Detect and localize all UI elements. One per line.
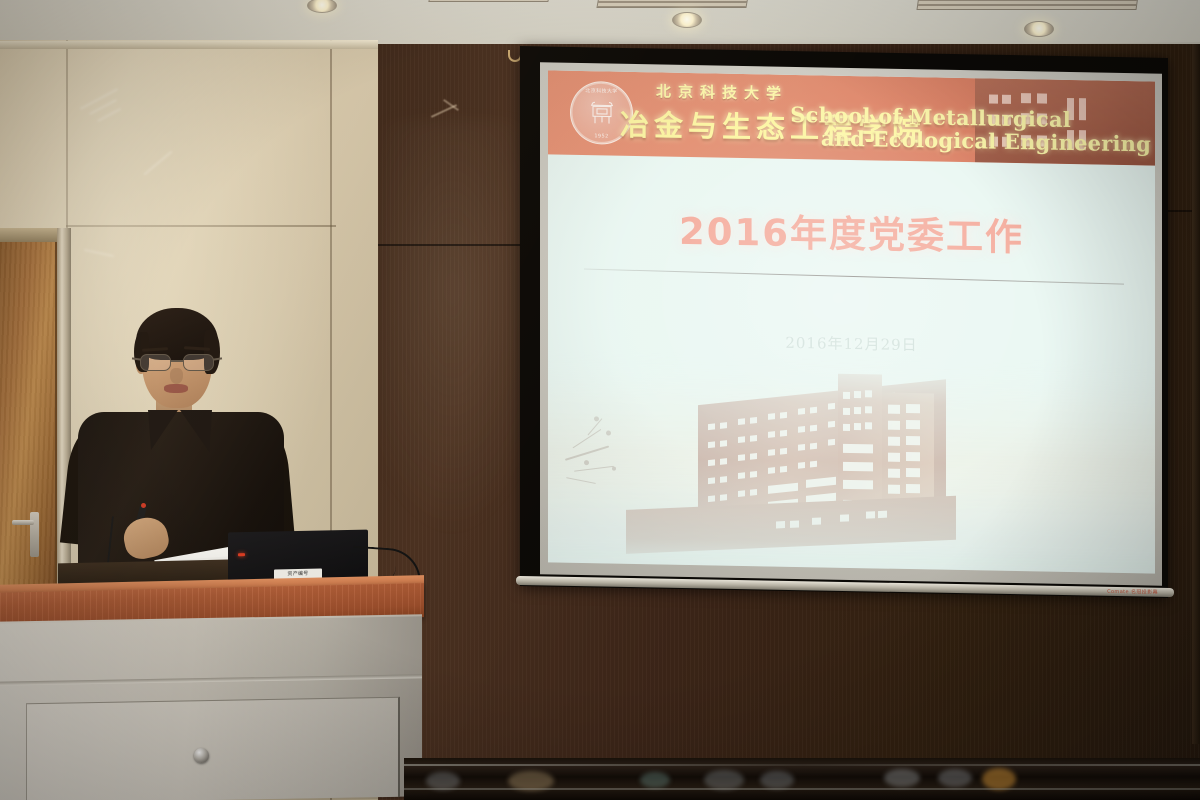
ceiling-vent-left xyxy=(428,0,551,2)
laser-pointer-led xyxy=(141,503,146,508)
reflective-floor-band xyxy=(404,758,1200,800)
eyeglass-bridge xyxy=(171,360,183,362)
wall-scratch-a xyxy=(80,88,118,109)
ceiling-downlight-2 xyxy=(672,12,702,28)
podium-cabinet-door[interactable] xyxy=(26,697,400,800)
wall-scratch-e xyxy=(144,151,173,176)
door-handle[interactable] xyxy=(12,520,34,525)
slide-divider-rule xyxy=(584,269,1124,285)
presenter-mouth xyxy=(164,384,188,393)
lecture-hall-photo: 北京科技大学 1952 北京科技大学 冶金与生态工程学院 School of M… xyxy=(0,0,1200,800)
podium-cabinet-knob[interactable] xyxy=(194,748,209,763)
illustration-fade-overlay xyxy=(548,350,1155,573)
eyeglass-lens-left xyxy=(140,354,171,371)
wall-scratch-d xyxy=(84,249,114,257)
presenter-nose xyxy=(170,368,183,384)
door-lock-plate xyxy=(30,512,39,557)
laptop-power-led xyxy=(238,553,245,556)
ding-cauldron-icon xyxy=(587,99,617,128)
wall-top-rail xyxy=(0,40,378,49)
eyeglass-lens-right xyxy=(183,354,214,371)
seal-arc-top-text: 北京科技大学 xyxy=(571,87,632,95)
slide-title: 2016年度党委工作 xyxy=(548,198,1155,263)
wall-seam-horizontal-1 xyxy=(66,225,336,227)
reflective-band-seam xyxy=(404,788,1200,790)
screen-brand-label: Comate 名冠投影幕 xyxy=(1107,588,1158,596)
ceiling-vent-right xyxy=(916,0,1139,10)
wooden-door[interactable] xyxy=(0,242,57,607)
ceiling-downlight-3 xyxy=(1024,21,1054,37)
university-name-cn: 北京科技大学 xyxy=(656,80,788,103)
ceiling-vent-center xyxy=(596,0,749,8)
presentation-slide: 北京科技大学 1952 北京科技大学 冶金与生态工程学院 School of M… xyxy=(548,70,1155,573)
slide-building-illustration xyxy=(548,350,1155,573)
wall-scratch-c xyxy=(97,108,121,122)
slide-header-banner: 北京科技大学 1952 北京科技大学 冶金与生态工程学院 School of M… xyxy=(548,70,1155,165)
right-edge-trim xyxy=(1192,44,1200,744)
wall-scratch-b xyxy=(89,99,116,115)
school-name-en-line2: and Ecological Engineering xyxy=(821,125,1151,156)
